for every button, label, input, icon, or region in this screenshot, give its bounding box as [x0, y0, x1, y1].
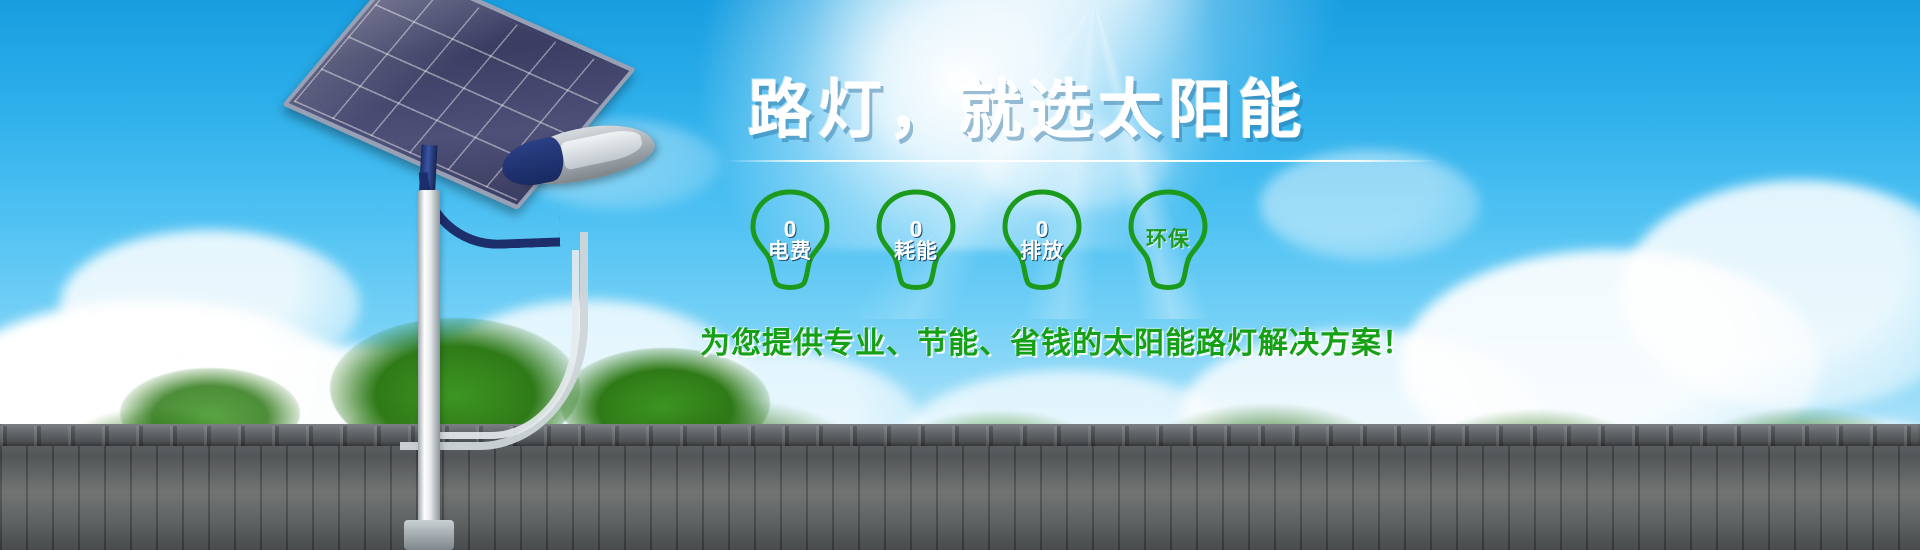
feature-badge: 0 耗能 — [872, 188, 960, 292]
lamp-pole-icon — [418, 190, 440, 550]
divider — [724, 160, 1440, 162]
feature-badge: 0 电费 — [746, 188, 834, 292]
feature-badge: 0 排放 — [998, 188, 1086, 292]
lamp-base — [404, 520, 454, 550]
badge-word: 排放 — [1020, 241, 1064, 262]
tiled-wall — [0, 430, 1920, 550]
badge-zero: 0 — [1036, 218, 1049, 241]
badge-zero: 0 — [910, 218, 923, 241]
wall-tiles — [0, 426, 1920, 446]
feature-badge-list: 0 电费 0 耗能 0 排放 — [746, 188, 1460, 292]
badge-word: 耗能 — [894, 241, 938, 262]
feature-badge: 环保 — [1124, 188, 1212, 292]
badge-word: 电费 — [768, 241, 812, 262]
banner-copy: 路灯，就选太阳能 0 电费 0 耗能 — [700, 78, 1460, 418]
page-title: 路灯，就选太阳能 — [700, 78, 1460, 142]
badge-zero: 0 — [784, 218, 797, 241]
badge-word: 环保 — [1146, 229, 1190, 250]
solar-street-light-banner: 路灯，就选太阳能 0 电费 0 耗能 — [0, 0, 1920, 550]
banner-tagline: 为您提供专业、节能、省钱的太阳能路灯解决方案！ — [700, 318, 1460, 362]
